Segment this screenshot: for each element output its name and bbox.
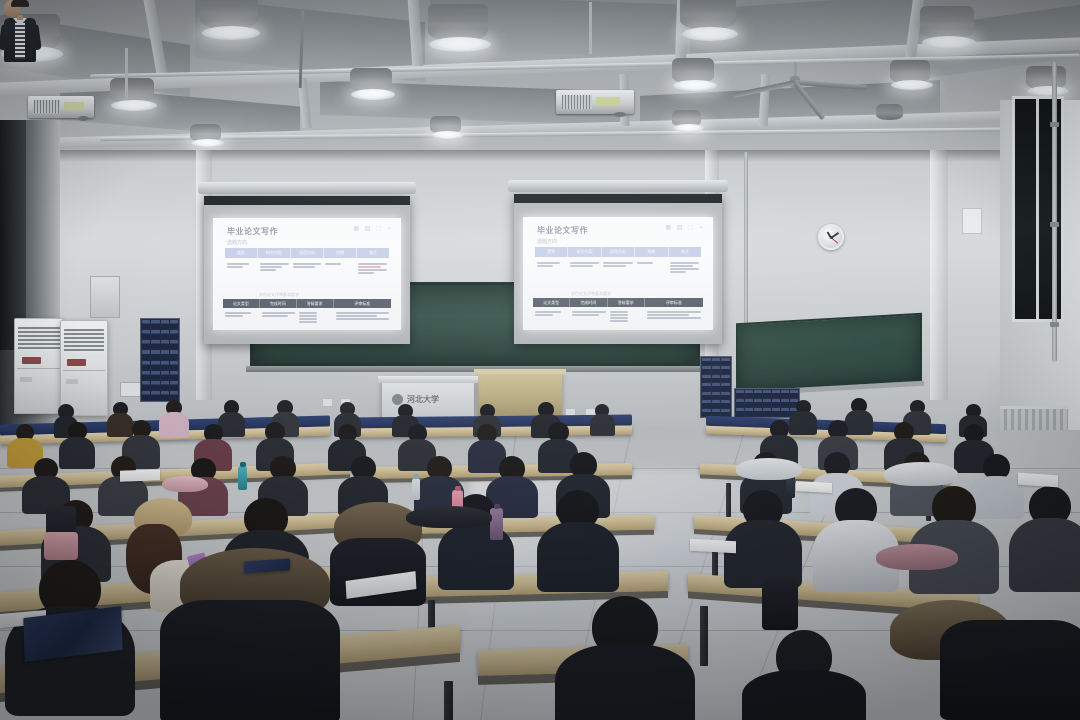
- slide-tab-cell: 类别: [535, 247, 568, 257]
- slide-header-cell: 评审标准: [645, 298, 703, 307]
- student: [726, 490, 800, 594]
- pendant-lamp: [430, 116, 464, 144]
- slide-tab-cell: 周期: [635, 247, 668, 257]
- ac-seam: [17, 368, 60, 369]
- slide-header-cell: 完成时间: [570, 298, 607, 307]
- slide-tab-cell: 研究内容: [568, 247, 601, 257]
- slide-tab-cell: 周期: [324, 248, 357, 258]
- slide-body-col: [645, 310, 703, 326]
- slide-table-caption: 学位论文评审基本要求: [259, 292, 299, 298]
- wall-utility-box: [90, 276, 120, 318]
- pendant-lamp: [672, 58, 718, 96]
- slide-tab-cell: 备注: [669, 247, 701, 257]
- wall-clock: [818, 224, 844, 250]
- slide-body-col: [260, 311, 297, 327]
- slide-body-col: [608, 310, 645, 326]
- wall-pipe: [744, 152, 748, 332]
- student: [540, 490, 616, 596]
- slide-body-col: [297, 311, 334, 327]
- handbag-pink: [44, 532, 78, 560]
- door-sign-plate: [962, 208, 982, 234]
- slide-header-cell: 论文类型: [223, 299, 260, 308]
- pendant-lamp: [920, 6, 978, 54]
- student-white-coat: [816, 488, 896, 596]
- ac-unit-left: [14, 318, 64, 414]
- slide-body-col: [291, 262, 324, 292]
- slide-body-col: [601, 261, 634, 291]
- slide-page: 毕业论文写作 选题方向 ▦ ▨ ⬚ ⌁ 类别 研究内容 适用方向 周期 备注 学…: [523, 217, 713, 330]
- paper-sheet: [690, 539, 736, 553]
- slide-table-caption: 学位论文评审基本要求: [571, 291, 611, 297]
- desk-leg: [444, 681, 453, 720]
- presenter-neck: [17, 15, 23, 20]
- ac-grille: [64, 329, 104, 353]
- slide-body-col: [323, 262, 356, 292]
- coat-pile-dark: [406, 506, 492, 528]
- slide-body-col: [334, 311, 391, 327]
- pendant-lamp: [350, 68, 396, 106]
- wall-outlet: [322, 398, 333, 407]
- ac-panel: [20, 377, 32, 382]
- organization-name: 河北大学: [407, 394, 439, 405]
- wall-control-panel: [120, 382, 142, 397]
- pendant-lamp: [680, 0, 740, 48]
- coat-pile-white: [884, 462, 958, 486]
- slide-tab-cell: 类别: [225, 248, 258, 258]
- slide-tab-cell: 适用方向: [291, 248, 324, 258]
- student: [590, 404, 614, 438]
- slide-body-col: [533, 310, 570, 326]
- university-seal-icon: [392, 394, 403, 405]
- wall-pilaster: [930, 150, 948, 400]
- slide-body-col: [223, 311, 260, 327]
- paper-sheet: [796, 481, 832, 493]
- slide-title: 毕业论文写作: [227, 226, 278, 237]
- pendant-lamp: [190, 124, 224, 152]
- pendant-lamp: [110, 78, 158, 118]
- ac-grille: [18, 327, 60, 351]
- slide-body-rows: [225, 262, 389, 292]
- slide-body-col: [258, 262, 291, 292]
- slide-body-col: [225, 262, 258, 292]
- slide-subtitle: 选题方向: [227, 239, 247, 246]
- student-fur-hood: [880, 600, 1080, 720]
- slide-header-row: 论文类型 完成时间 答辩要求 评审标准: [533, 298, 703, 307]
- slide-header-cell: 答辩要求: [608, 298, 645, 307]
- slide-header-cell: 论文类型: [533, 298, 570, 307]
- slide-body-col: [635, 261, 668, 291]
- glasses-icon: [13, 6, 27, 10]
- slide-body-rows: [535, 261, 701, 291]
- wall-ceiling-shadow: [0, 150, 1080, 162]
- slide-lower-rows: [223, 311, 391, 327]
- slide-header-cell: 评审标准: [334, 299, 391, 308]
- student: [1012, 486, 1080, 598]
- pendant-lamp: [428, 4, 492, 56]
- ac-unit-right: [60, 320, 108, 416]
- slide-tab-cell: 备注: [357, 248, 389, 258]
- right-projector: [548, 40, 636, 116]
- paper-sheet: [120, 469, 160, 481]
- slide-body-col: [668, 261, 701, 291]
- ac-panel: [66, 379, 78, 384]
- ac-brand-label: [67, 359, 85, 367]
- lecture-hall-photo: 毕业论文写作 选题方向 ▦ ▨ ⬚ ⌁ 类别 研究内容 适用方向 周期 备注: [0, 0, 1080, 720]
- slide-body-col: [570, 310, 607, 326]
- screen-top-bar: [204, 196, 410, 205]
- screen-casing: [198, 182, 416, 194]
- pendant-lamp: [200, 0, 262, 50]
- pendant-lamp: [672, 110, 704, 136]
- slide-title: 毕业论文写作: [537, 225, 588, 236]
- slide-body-col: [356, 262, 389, 292]
- slide-header-cell: 完成时间: [260, 299, 297, 308]
- phone-pocket-board: [140, 318, 180, 402]
- ceiling-fan: [790, 76, 800, 88]
- left-wall-recess: [0, 120, 26, 350]
- student: [744, 630, 864, 720]
- left-projection-screen: 毕业论文写作 选题方向 ▦ ▨ ⬚ ⌁ 类别 研究内容 适用方向 周期 备注: [204, 196, 410, 344]
- side-table-top: [474, 369, 566, 374]
- slide-subtitle: 选题方向: [537, 238, 557, 245]
- slide-tab-row: 类别 研究内容 适用方向 周期 备注: [225, 248, 389, 258]
- student: [160, 400, 188, 438]
- screen-top-bar: [514, 194, 722, 203]
- slide-body-col: [568, 261, 601, 291]
- student: [560, 596, 690, 720]
- backpack: [762, 580, 798, 630]
- slide-tab-cell: 适用方向: [602, 247, 635, 257]
- slide-header-row: 论文类型 完成时间 答辩要求 评审标准: [223, 299, 391, 308]
- coat-pile-white: [736, 458, 802, 480]
- slide-tab-row: 类别 研究内容 适用方向 周期 备注: [535, 247, 701, 257]
- slide-toolbar-icons: ▦ ▨ ⬚ ⌁: [353, 225, 393, 232]
- water-bottle-clear: [412, 478, 420, 500]
- pendant-lamp: [890, 60, 934, 96]
- coat-dark: [160, 600, 340, 720]
- pendant-lamp: [876, 104, 906, 128]
- slide-page: 毕业论文写作 选题方向 ▦ ▨ ⬚ ⌁ 类别 研究内容 适用方向 周期 备注: [213, 218, 401, 330]
- right-projection-screen: 毕业论文写作 选题方向 ▦ ▨ ⬚ ⌁ 类别 研究内容 适用方向 周期 备注 学…: [514, 194, 722, 344]
- screen-casing: [508, 180, 728, 192]
- wall-pipe: [1052, 62, 1057, 362]
- coat-pile-pink: [876, 544, 958, 570]
- student-fur-hood: [160, 548, 340, 720]
- side-blackboard: [736, 313, 922, 393]
- slide-toolbar-icons: ▦ ▨ ⬚ ⌁: [665, 224, 705, 231]
- ac-seam: [63, 370, 104, 371]
- presenter-shirt: [15, 19, 25, 59]
- slide-lower-rows: [533, 310, 703, 326]
- student: [912, 486, 996, 598]
- slide-header-cell: 答辩要求: [297, 299, 334, 308]
- thermos-purple: [490, 508, 503, 540]
- slide-body-col: [535, 261, 568, 291]
- slide-tab-cell: 研究内容: [258, 248, 291, 258]
- coat-dark: [940, 620, 1080, 720]
- coat-pile-pink: [162, 476, 208, 492]
- ac-brand-label: [22, 357, 41, 365]
- lectern-top: [378, 376, 478, 383]
- window-mullion: [1036, 99, 1039, 319]
- bottle-teal: [238, 466, 247, 490]
- phone-pocket-board: [700, 356, 732, 418]
